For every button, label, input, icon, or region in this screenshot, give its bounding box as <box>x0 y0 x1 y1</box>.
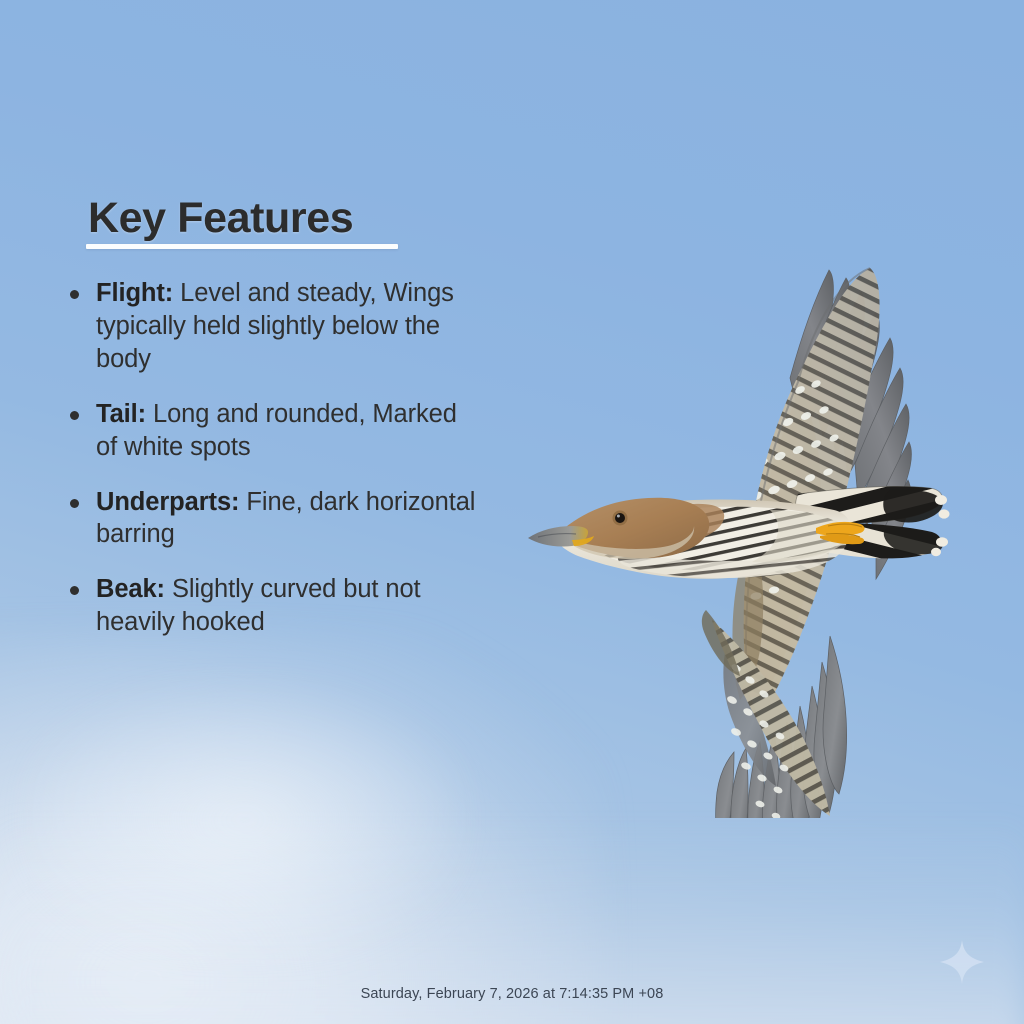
sparkle-icon <box>938 938 986 986</box>
page-title: Key Features <box>56 196 476 241</box>
bullet-icon <box>70 586 79 595</box>
list-item-underparts: Underparts: Fine, dark horizontal barrin… <box>56 486 476 552</box>
feature-description: Long and rounded, Marked of white spots <box>96 400 457 461</box>
head <box>528 498 709 559</box>
feature-label: Tail: <box>96 400 146 428</box>
timestamp-caption: Saturday, February 7, 2026 at 7:14:35 PM… <box>0 986 1024 1002</box>
list-item-tail: Tail: Long and rounded, Marked of white … <box>56 398 476 464</box>
bullet-icon <box>70 411 79 420</box>
common-cuckoo-in-flight-image <box>498 128 990 818</box>
bullet-icon <box>70 499 79 508</box>
feature-label: Underparts: <box>96 488 239 516</box>
list-item-beak: Beak: Slightly curved but not heavily ho… <box>56 573 476 639</box>
feature-label: Flight: <box>96 279 173 307</box>
feature-list: Flight: Level and steady, Wings typicall… <box>56 277 476 639</box>
bullet-icon <box>70 290 79 299</box>
list-item-flight: Flight: Level and steady, Wings typicall… <box>56 277 476 376</box>
key-features-panel: Key Features Flight: Level and steady, W… <box>56 196 476 639</box>
title-underline <box>86 244 398 249</box>
feature-label: Beak: <box>96 575 165 603</box>
bird-eye <box>615 513 625 523</box>
cloud-haze-mid-left <box>30 690 460 950</box>
